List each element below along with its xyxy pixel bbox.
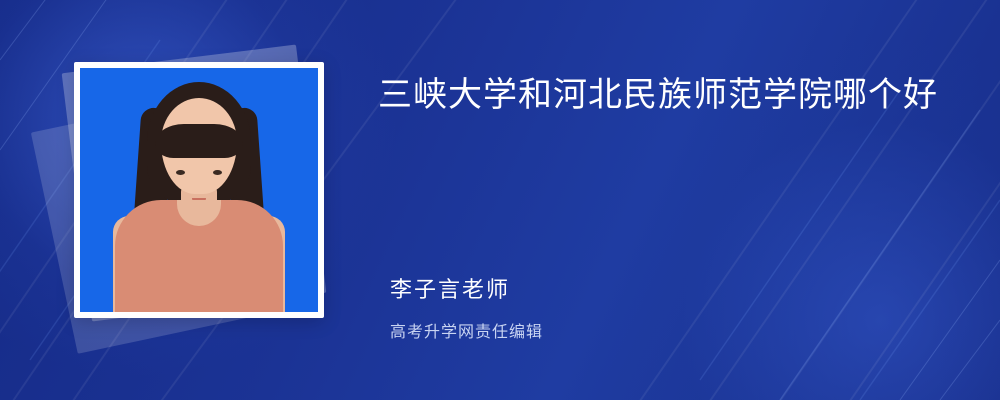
portrait-photo bbox=[80, 68, 318, 312]
author-name: 李子言老师 bbox=[390, 272, 950, 304]
author-role: 高考升学网责任编辑 bbox=[390, 318, 950, 342]
photo-card-front bbox=[74, 62, 324, 318]
portrait-photo-stack bbox=[52, 40, 352, 360]
portrait-eye-left bbox=[176, 170, 185, 175]
article-header-banner: 三峡大学和河北民族师范学院哪个好 李子言老师 高考升学网责任编辑 bbox=[0, 0, 1000, 400]
headline-block: 三峡大学和河北民族师范学院哪个好 bbox=[378, 68, 958, 122]
page-title: 三峡大学和河北民族师范学院哪个好 bbox=[378, 68, 938, 122]
portrait-eye-right bbox=[213, 170, 222, 175]
portrait-bangs bbox=[155, 124, 243, 158]
byline-block: 李子言老师 高考升学网责任编辑 bbox=[390, 272, 950, 342]
portrait-face bbox=[161, 98, 237, 194]
